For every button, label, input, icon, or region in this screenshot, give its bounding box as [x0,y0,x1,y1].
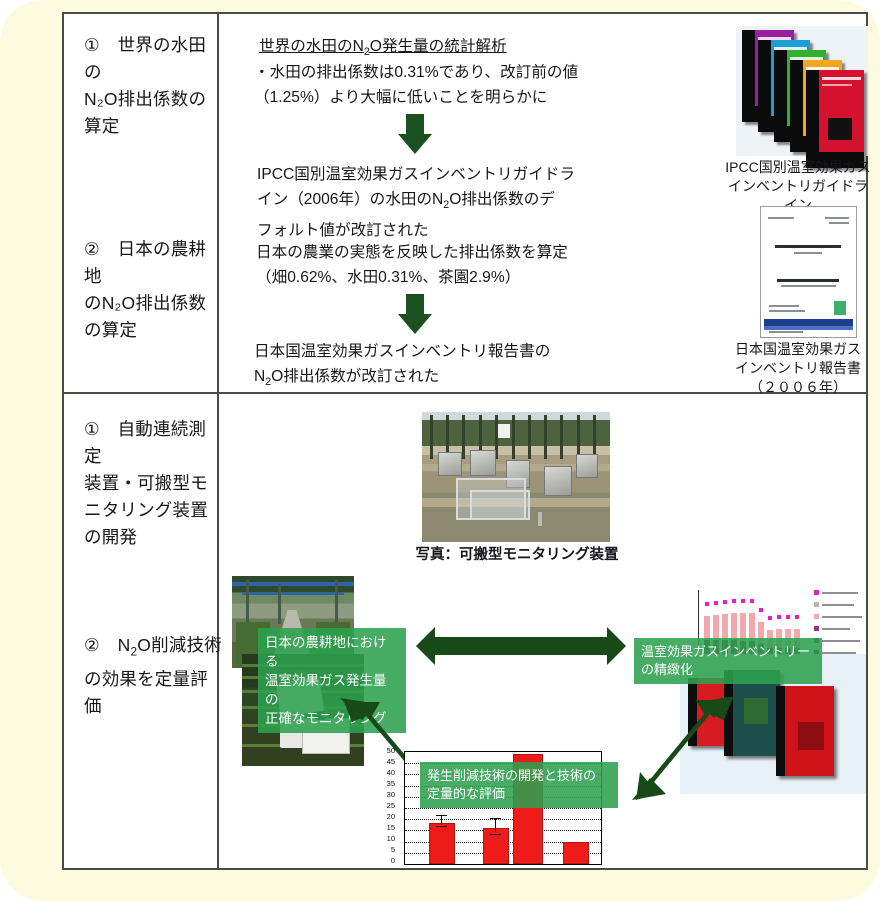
row3-photo-caption: 写真：可搬型モニタリング装置 [412,546,622,565]
legend-swatch-2 [814,602,819,607]
callout-reduction: 発生削減技術の開発と技術の 定量的な評価 [420,762,618,808]
monitoring-equipment-photo [422,412,610,542]
row1-result: IPCC国別温室効果ガスインベントリガイドライン（2006年）の水田のN2O排出… [257,162,687,243]
row3-label: ① 自動連続測定 装置・可搬型モ ニタリング装置 の開発 [84,416,219,551]
legend-swatch-3 [814,614,819,619]
book-cover-5 [806,70,864,168]
content-sheet: ① 世界の水田の N₂O排出係数の 算定 世界の水田のN2O発生量の統計解析 ・… [62,12,868,870]
row2-result: 日本国温室効果ガスインベントリ報告書のN2O排出係数が改訂された [254,339,684,395]
ipcc-guidelines-book-stack [736,26,868,156]
row4-label: ② N2O削減技術の効果を定量評価 [84,632,224,720]
legend-swatch-1 [814,590,819,595]
bar-chart-y-axis: 50 45 40 35 30 25 20 15 10 5 0 [379,744,399,864]
double-arrow-horizontal-icon [416,626,626,666]
row2-label: ② 日本の農耕地 のN₂O排出係数 の算定 [84,236,219,344]
book-small-3 [776,686,834,776]
row2-body: 日本の農業の実態を反映した排出係数を算定 （畑0.62%、水田0.31%、茶園2… [256,240,686,290]
down-arrow-icon-2 [398,294,432,334]
bar-1 [429,823,455,864]
legend-swatch-4 [814,626,819,631]
row2-figure-caption: 日本国温室効果ガス インベントリ報告書 （２００６年） [724,340,872,397]
callout-inventory: 温室効果ガスインベントリー の精緻化 [634,638,822,684]
double-arrow-diagonal-right-icon [624,692,744,804]
down-arrow-icon [398,114,432,154]
bar-4 [563,842,589,864]
row1-label: ① 世界の水田の N₂O排出係数の 算定 [84,32,214,140]
row1-body: ・水田の排出係数は0.31%であり、改訂前の値 （1.25%）より大幅に低いこと… [254,60,684,110]
japan-inventory-report-cover [760,206,857,338]
